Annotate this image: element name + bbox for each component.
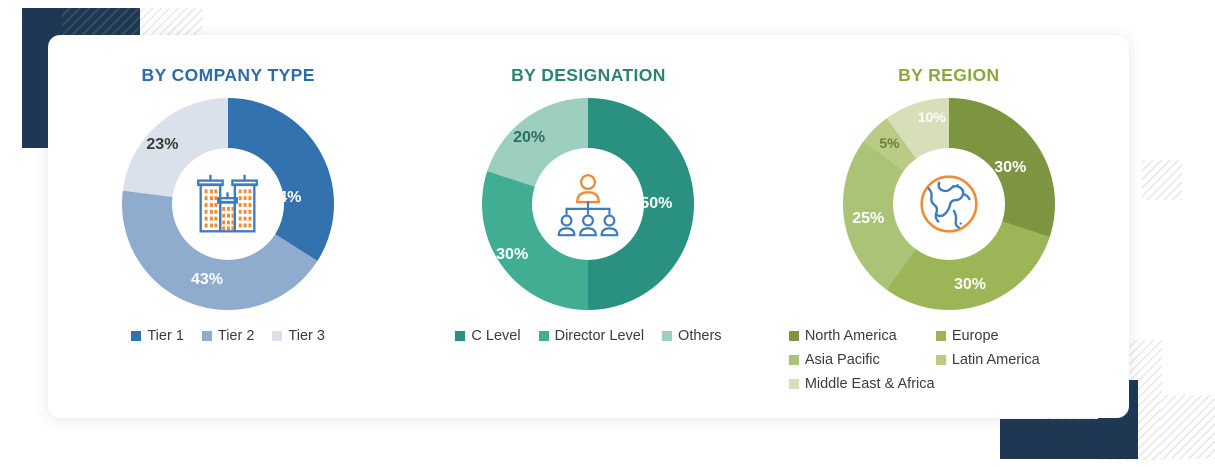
company-type-legend-item[interactable]: Tier 3: [272, 328, 325, 344]
region-legend-item[interactable]: Middle East & Africa: [789, 376, 922, 392]
legend-label: Latin America: [952, 352, 1040, 368]
donut-chart-designation: 50% 30% 20%: [482, 98, 694, 310]
legend-designation: C LevelDirector LevelOthers: [446, 328, 730, 351]
right-hatch-patch-5: [1142, 160, 1182, 200]
slice-label-others: 20%: [513, 129, 545, 147]
legend-label: Others: [678, 328, 722, 344]
legend-swatch-icon: [202, 331, 212, 341]
legend-swatch-icon: [455, 331, 465, 341]
legend-swatch-icon: [539, 331, 549, 341]
legend-label: Asia Pacific: [805, 352, 880, 368]
region-legend-item[interactable]: Europe: [936, 328, 1069, 344]
panel-title-designation: BY DESIGNATION: [511, 65, 666, 86]
slice-label-tier-2: 43%: [191, 271, 223, 289]
panel-region: BY REGION: [769, 35, 1129, 418]
legend-swatch-icon: [936, 331, 946, 341]
legend-swatch-icon: [789, 379, 799, 389]
legend-swatch-icon: [662, 331, 672, 341]
donut-center-designation: [532, 148, 644, 260]
slice-label-middle-east-africa: 10%: [918, 109, 946, 125]
slice-label-asia-pacific: 25%: [852, 210, 884, 228]
designation-legend-item[interactable]: C Level: [455, 328, 520, 344]
slice-label-tier-1: 34%: [269, 189, 301, 207]
legend-label: Tier 3: [288, 328, 325, 344]
slice-label-tier-3: 23%: [146, 136, 178, 154]
legend-label: C Level: [471, 328, 520, 344]
slice-label-c-level: 50%: [640, 195, 672, 213]
legend-swatch-icon: [789, 331, 799, 341]
legend-label: Tier 1: [147, 328, 184, 344]
legend-label: Middle East & Africa: [805, 376, 935, 392]
company-type-legend-item[interactable]: Tier 2: [202, 328, 255, 344]
legend-company-type: Tier 1Tier 2Tier 3: [122, 328, 334, 351]
org-hierarchy-icon: [549, 165, 627, 243]
company-type-legend-item[interactable]: Tier 1: [131, 328, 184, 344]
legend-swatch-icon: [131, 331, 141, 341]
region-legend-item[interactable]: Asia Pacific: [789, 352, 922, 368]
legend-region: North AmericaEuropeAsia PacificLatin Ame…: [789, 328, 1109, 400]
region-legend-item[interactable]: North America: [789, 328, 922, 344]
legend-label: Europe: [952, 328, 999, 344]
legend-swatch-icon: [789, 355, 799, 365]
slice-label-north-america: 30%: [994, 159, 1026, 177]
office-buildings-icon: [189, 165, 267, 243]
panel-company-type: BY COMPANY TYPE: [48, 35, 408, 418]
donut-center-region: [893, 148, 1005, 260]
bottom-right-hatch-patch-4: [1160, 395, 1215, 459]
donut-center-company-type: [172, 148, 284, 260]
globe-icon: [910, 165, 988, 243]
designation-legend-item[interactable]: Director Level: [539, 328, 644, 344]
panel-title-company-type: BY COMPANY TYPE: [142, 65, 315, 86]
bottom-right-navy-horizontal-bar: [1000, 419, 1138, 459]
panel-designation: BY DESIGNATION: [408, 35, 768, 418]
legend-label: North America: [805, 328, 897, 344]
donut-chart-company-type: 34% 43% 23%: [122, 98, 334, 310]
legend-label: Director Level: [555, 328, 644, 344]
slice-label-latin-america: 5%: [879, 135, 899, 151]
legend-swatch-icon: [272, 331, 282, 341]
designation-legend-item[interactable]: Others: [662, 328, 722, 344]
legend-label: Tier 2: [218, 328, 255, 344]
slice-label-director-level: 30%: [496, 246, 528, 264]
infographic-card: BY COMPANY TYPE: [48, 35, 1129, 418]
panel-title-region: BY REGION: [898, 65, 1000, 86]
legend-swatch-icon: [936, 355, 946, 365]
slice-label-europe: 30%: [954, 276, 986, 294]
donut-chart-region: 30% 30% 25% 5% 10%: [843, 98, 1055, 310]
region-legend-item[interactable]: Latin America: [936, 352, 1069, 368]
